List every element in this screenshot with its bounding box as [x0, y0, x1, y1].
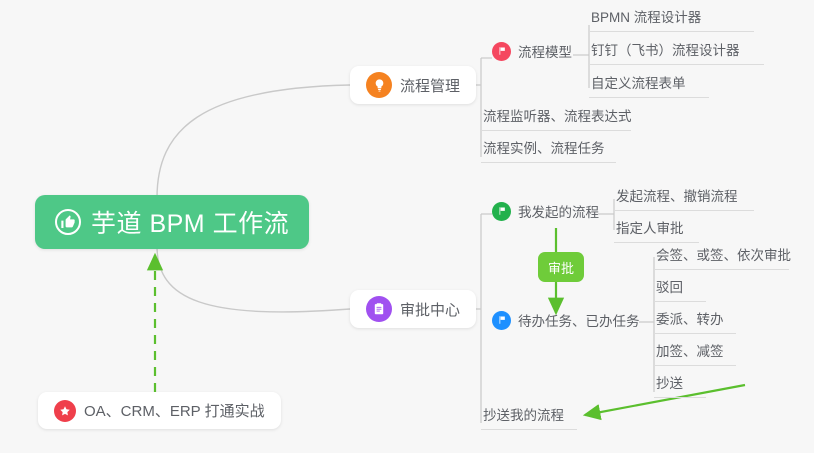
- star-icon: [54, 400, 76, 422]
- node-label-delegate-transfer: 委派、转办: [656, 310, 724, 333]
- node-label-todo-done-tasks: 待办任务、已办任务: [518, 310, 640, 330]
- thumbs-up-icon: [55, 209, 81, 235]
- node-label-instance-task: 流程实例、流程任务: [483, 139, 605, 162]
- node-todo-done-tasks[interactable]: 待办任务、已办任务: [492, 310, 640, 330]
- node-label-multi-sign: 会签、或签、依次审批: [656, 246, 791, 269]
- edge-root-to-process-management: [157, 85, 350, 198]
- node-label-process-model: 流程模型: [518, 41, 572, 61]
- node-label-custom-process-form: 自定义流程表单: [591, 74, 686, 97]
- floating-node-integration-note[interactable]: OA、CRM、ERP 打通实战: [38, 392, 281, 429]
- lightbulb-pin-icon: [366, 72, 392, 98]
- node-cc[interactable]: 抄送: [654, 371, 706, 398]
- node-label-start-cancel: 发起流程、撤销流程: [616, 187, 738, 210]
- node-label-cc: 抄送: [656, 374, 683, 397]
- node-start-cancel[interactable]: 发起流程、撤销流程: [614, 184, 754, 211]
- mindmap-canvas: 芋道 BPM 工作流 流程管理 流程模型 BPMN 流程设计器 钉钉（飞书）流程…: [0, 0, 814, 453]
- node-multi-sign[interactable]: 会签、或签、依次审批: [654, 243, 789, 270]
- node-label-dingtalk-feishu-designer: 钉钉（飞书）流程设计器: [591, 41, 740, 64]
- node-cc-to-me[interactable]: 抄送我的流程: [481, 403, 577, 430]
- node-instance-task[interactable]: 流程实例、流程任务: [481, 136, 616, 163]
- floating-node-label-integration-note: OA、CRM、ERP 打通实战: [84, 400, 265, 421]
- annotation-approval-tag: 审批: [538, 252, 584, 282]
- edge-root-to-approval-center: [157, 246, 350, 312]
- node-label-my-initiated: 我发起的流程: [518, 201, 599, 221]
- node-my-initiated[interactable]: 我发起的流程: [492, 201, 599, 221]
- node-label-assignee-approval: 指定人审批: [616, 219, 684, 242]
- clipboard-icon: [366, 296, 392, 322]
- root-node[interactable]: 芋道 BPM 工作流: [35, 195, 309, 249]
- branch-label-approval-center: 审批中心: [400, 299, 460, 320]
- node-assignee-approval[interactable]: 指定人审批: [614, 216, 699, 243]
- node-custom-process-form[interactable]: 自定义流程表单: [589, 71, 709, 98]
- node-delegate-transfer[interactable]: 委派、转办: [654, 307, 736, 334]
- flag-icon: [492, 202, 511, 221]
- branch-node-process-management[interactable]: 流程管理: [350, 66, 476, 104]
- node-reject[interactable]: 驳回: [654, 275, 706, 302]
- node-label-cc-to-me: 抄送我的流程: [483, 406, 564, 429]
- node-label-reject: 驳回: [656, 278, 683, 301]
- annotation-approval-tag-label: 审批: [548, 258, 574, 277]
- node-label-add-remove-sign: 加签、减签: [656, 342, 724, 365]
- node-dingtalk-feishu-designer[interactable]: 钉钉（飞书）流程设计器: [589, 38, 764, 65]
- flag-icon: [492, 42, 511, 61]
- node-listener-expression[interactable]: 流程监听器、流程表达式: [481, 104, 631, 131]
- node-label-bpmn-designer: BPMN 流程设计器: [591, 8, 701, 31]
- node-bpmn-designer[interactable]: BPMN 流程设计器: [589, 5, 754, 32]
- node-add-remove-sign[interactable]: 加签、减签: [654, 339, 736, 366]
- branch-node-approval-center[interactable]: 审批中心: [350, 290, 476, 328]
- node-label-listener-expression: 流程监听器、流程表达式: [483, 107, 632, 130]
- node-process-model[interactable]: 流程模型: [492, 41, 572, 61]
- root-label: 芋道 BPM 工作流: [91, 204, 289, 240]
- branch-label-process-management: 流程管理: [400, 75, 460, 96]
- flag-icon: [492, 311, 511, 330]
